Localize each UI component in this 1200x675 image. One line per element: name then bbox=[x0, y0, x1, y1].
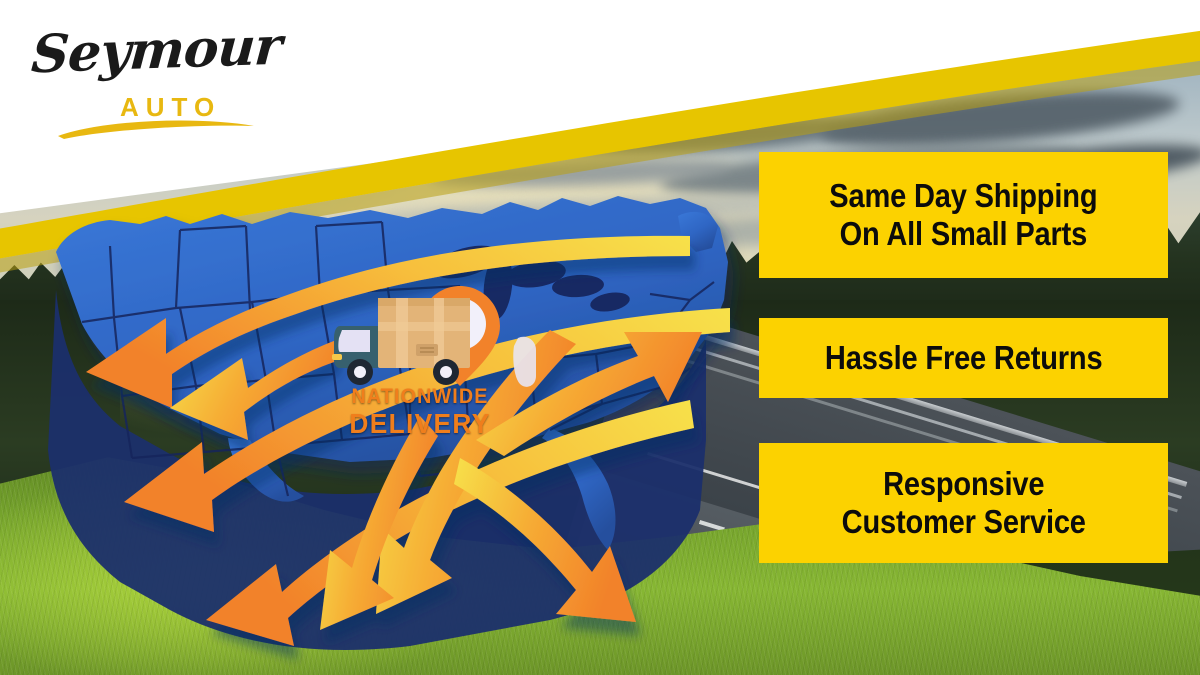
nationwide-delivery-badge: NATIONWIDE DELIVERY bbox=[330, 282, 510, 447]
feature-text: Responsive Customer Service bbox=[841, 465, 1085, 542]
feature-list: Same Day Shipping On All Small Parts Has… bbox=[759, 152, 1168, 563]
badge-line-1: NATIONWIDE bbox=[335, 386, 504, 407]
brand-script-name: Seymour bbox=[29, 16, 283, 86]
feature-text: Hassle Free Returns bbox=[825, 339, 1103, 377]
brand-logo[interactable]: Seymour AUTO bbox=[28, 18, 258, 128]
feature-box-responsive-customer-service[interactable]: Responsive Customer Service bbox=[759, 443, 1168, 563]
badge-caption: NATIONWIDE DELIVERY bbox=[330, 386, 510, 438]
feature-box-hassle-free-returns[interactable]: Hassle Free Returns bbox=[759, 318, 1168, 398]
truck-cargo-box bbox=[378, 298, 470, 368]
promo-banner: Seymour AUTO bbox=[0, 0, 1200, 675]
feature-text: Same Day Shipping On All Small Parts bbox=[829, 177, 1097, 254]
brand-sub-name: AUTO bbox=[120, 92, 221, 123]
feature-box-same-day-shipping[interactable]: Same Day Shipping On All Small Parts bbox=[759, 152, 1168, 278]
badge-line-2: DELIVERY bbox=[335, 410, 504, 438]
delivery-truck-icon bbox=[330, 282, 510, 394]
